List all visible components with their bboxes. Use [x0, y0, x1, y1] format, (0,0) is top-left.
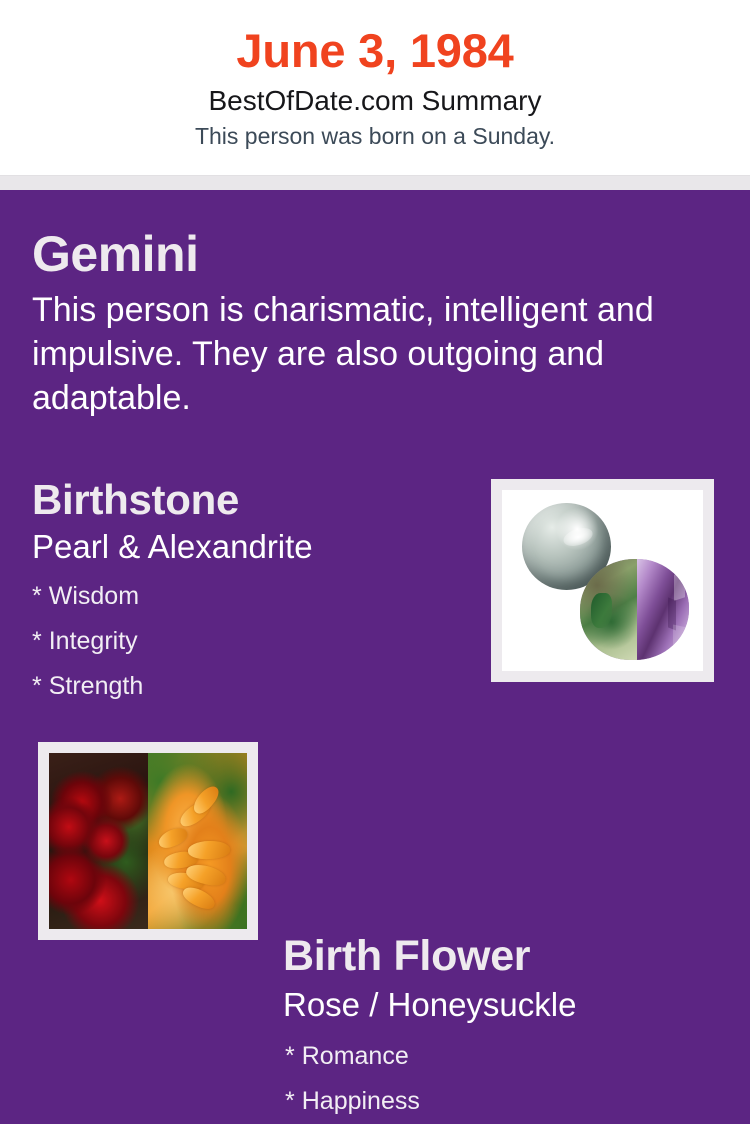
- birthstone-trait-label: Integrity: [49, 627, 138, 655]
- site-name-subtitle: BestOfDate.com Summary: [0, 80, 750, 119]
- birthflower-value: Rose / Honeysuckle: [283, 982, 723, 1026]
- header-divider: [0, 175, 750, 190]
- birthflower-image: [38, 742, 258, 940]
- birthflower-trait-label: Happiness: [302, 1087, 420, 1115]
- birthstone-image: [491, 479, 714, 682]
- zodiac-section: Gemini This person is charismatic, intel…: [32, 224, 712, 420]
- page-title-date: June 3, 1984: [0, 0, 750, 80]
- birthstone-title: Birthstone: [32, 475, 472, 525]
- petal: [156, 825, 190, 852]
- bullet-star-icon: *: [32, 582, 42, 610]
- zodiac-sign-name: Gemini: [32, 224, 712, 284]
- birthstone-trait-label: Strength: [49, 672, 144, 700]
- birthflower-image-canvas: [49, 753, 247, 929]
- list-item: *Wisdom: [32, 574, 472, 619]
- list-item: *Happiness: [285, 1079, 723, 1124]
- birthstone-trait-list: *Wisdom *Integrity *Strength: [32, 568, 472, 709]
- birthflower-trait-label: Romance: [302, 1042, 409, 1070]
- birthstone-value: Pearl & Alexandrite: [32, 525, 472, 568]
- bullet-star-icon: *: [32, 672, 42, 700]
- alexandrite-green-half: [580, 559, 636, 660]
- alexandrite-gem-graphic: [580, 559, 689, 660]
- gem-facet: [673, 624, 687, 649]
- honeysuckle-graphic: [148, 753, 247, 929]
- birthflower-section: Birth Flower Rose / Honeysuckle *Romance…: [283, 930, 723, 1124]
- bullet-star-icon: *: [285, 1087, 295, 1115]
- birthstone-image-canvas: [502, 490, 703, 671]
- weekday-note: This person was born on a Sunday.: [0, 119, 750, 152]
- summary-card: June 3, 1984 BestOfDate.com Summary This…: [0, 0, 750, 1000]
- petal: [187, 840, 229, 859]
- card-header: June 3, 1984 BestOfDate.com Summary This…: [0, 0, 750, 175]
- birthflower-title: Birth Flower: [283, 930, 723, 982]
- birthstone-section: Birthstone Pearl & Alexandrite *Wisdom *…: [32, 475, 472, 709]
- list-item: *Strength: [32, 664, 472, 709]
- red-roses-graphic: [49, 753, 148, 929]
- list-item: *Integrity: [32, 619, 472, 664]
- bullet-star-icon: *: [32, 627, 42, 655]
- bullet-star-icon: *: [285, 1042, 295, 1070]
- birthflower-trait-list: *Romance *Happiness: [283, 1026, 723, 1124]
- list-item: *Romance: [285, 1034, 723, 1079]
- birthstone-trait-label: Wisdom: [49, 582, 139, 610]
- zodiac-description: This person is charismatic, intelligent …: [32, 284, 697, 420]
- alexandrite-purple-half: [637, 559, 689, 660]
- gem-facet: [674, 571, 685, 601]
